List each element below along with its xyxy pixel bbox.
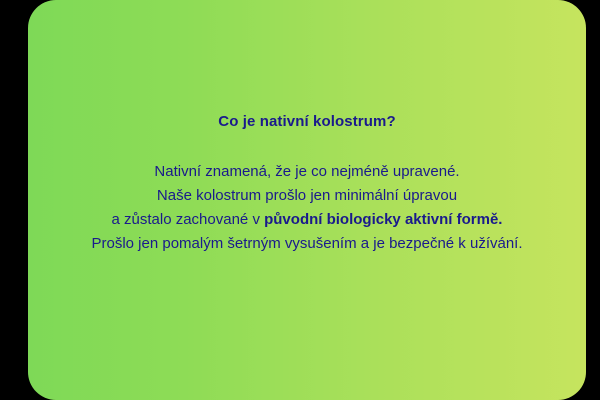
card-body-text: Prošlo jen pomalým šetrným vysušením a j… — [91, 235, 522, 252]
card-body-text: a zůstalo zachované v — [112, 211, 265, 228]
card-body-text: Nativní znamená, že je co nejméně uprave… — [154, 163, 459, 180]
card-body-line: Nativní znamená, že je co nejméně uprave… — [28, 160, 586, 184]
card-body-line: Prošlo jen pomalým šetrným vysušením a j… — [28, 232, 586, 256]
card-body-line: a zůstalo zachované v původní biologicky… — [28, 208, 586, 232]
card-body-emphasis: původní biologicky aktivní formě. — [264, 211, 502, 228]
screenshot-stage: Co je nativní kolostrum? Nativní znamená… — [0, 0, 600, 400]
card-heading: Co je nativní kolostrum? — [28, 112, 586, 132]
card-body-text: Naše kolostrum prošlo jen minimální úpra… — [157, 187, 457, 204]
info-card: Co je nativní kolostrum? Nativní znamená… — [28, 0, 586, 400]
card-text-block: Co je nativní kolostrum? Nativní znamená… — [28, 112, 586, 256]
card-body-line: Naše kolostrum prošlo jen minimální úpra… — [28, 184, 586, 208]
card-body: Nativní znamená, že je co nejméně uprave… — [28, 160, 586, 256]
